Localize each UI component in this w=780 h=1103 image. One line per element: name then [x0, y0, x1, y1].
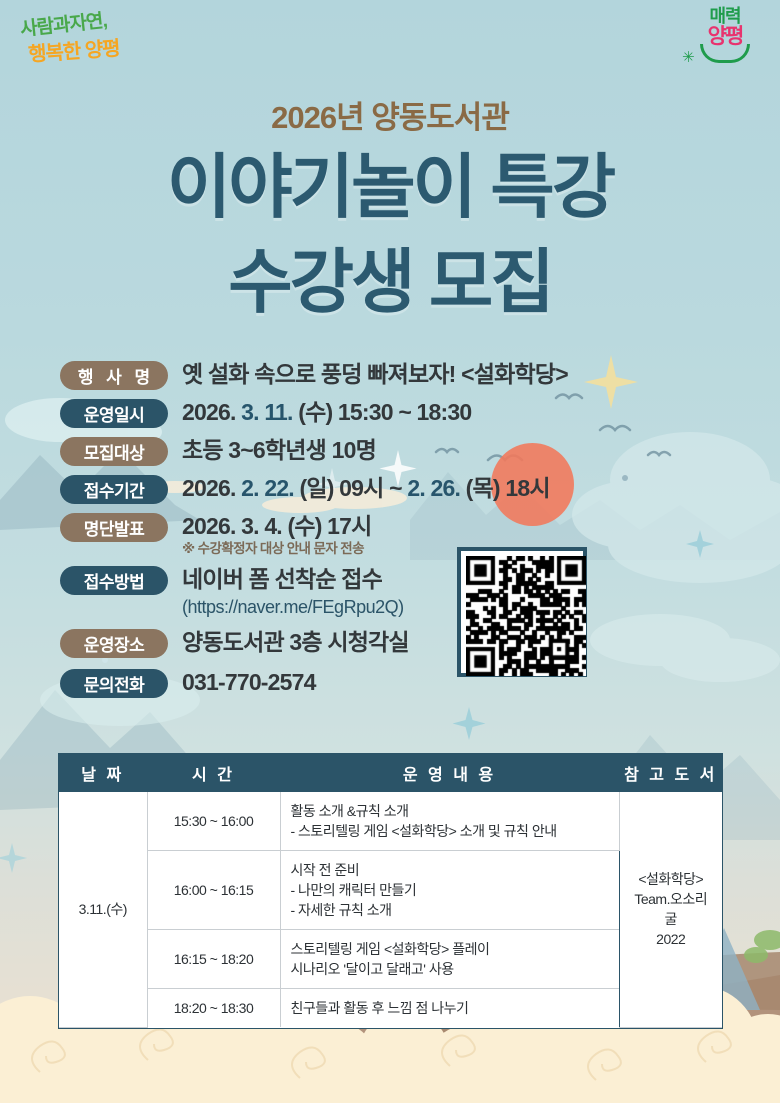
content-line: 활동 소개 &규칙 소개	[291, 801, 609, 821]
info-label-announcement: 명단발표	[60, 513, 168, 542]
application-form-link[interactable]: (https://naver.me/FEgRpu2Q)	[182, 596, 404, 618]
content-line: 스토리텔링 게임 <설화학당> 플레이	[291, 939, 609, 959]
column-header-reference: 참 고 도 서	[619, 754, 722, 792]
period-suffix: (목) 18시	[460, 475, 550, 501]
cell-content: 친구들과 활동 후 느낌 점 나누기	[280, 989, 619, 1028]
info-value-venue: 양동도서관 3층 시청각실	[182, 626, 409, 658]
info-value-target: 초등 3~6학년생 10명	[182, 434, 376, 466]
cell-content: 활동 소개 &규칙 소개- 스토리텔링 게임 <설화학당> 소개 및 규칙 안내	[280, 792, 619, 851]
info-label-target: 모집대상	[60, 437, 168, 466]
cell-time: 18:20 ~ 18:30	[147, 989, 280, 1028]
datetime-prefix: 2026.	[182, 399, 241, 425]
cell-time: 15:30 ~ 16:00	[147, 792, 280, 851]
info-label-event-name: 행 사 명	[60, 361, 168, 390]
yangpyeong-brand-logo: 매력 양평 ✳	[684, 6, 766, 72]
info-label-how-to-apply: 접수방법	[60, 566, 168, 595]
cell-content: 스토리텔링 게임 <설화학당> 플레이시나리오 '달이고 달래고' 사용	[280, 930, 619, 989]
sparkle-icon: ✳	[682, 48, 695, 66]
info-label-phone: 문의전화	[60, 669, 168, 698]
content-line: 시나리오 '달이고 달래고' 사용	[291, 959, 609, 979]
datetime-suffix: (수) 15:30 ~ 18:30	[293, 399, 472, 425]
content-line: 친구들과 활동 후 느낌 점 나누기	[291, 998, 609, 1018]
info-row-datetime: 운영일시 2026. 3. 11. (수) 15:30 ~ 18:30	[60, 396, 720, 428]
info-row-phone: 문의전화 031-770-2574	[60, 666, 720, 698]
qr-code[interactable]	[457, 547, 587, 677]
reference-line: <설화학당>	[630, 869, 713, 889]
info-label-datetime: 운영일시	[60, 399, 168, 428]
qr-code-canvas	[466, 556, 586, 676]
event-info-list: 행 사 명 옛 설화 속으로 풍덩 빠져보자! <설화학당> 운영일시 2026…	[60, 358, 720, 704]
period-highlight-end: 2. 26.	[407, 475, 460, 501]
column-header-time: 시 간	[147, 754, 280, 792]
table-row: 3.11.(수)15:30 ~ 16:00활동 소개 &규칙 소개- 스토리텔링…	[59, 792, 722, 851]
reference-line: Team.오소리굴	[630, 889, 713, 929]
info-value-datetime: 2026. 3. 11. (수) 15:30 ~ 18:30	[182, 396, 471, 428]
slogan-line-2: 행복한 양평	[27, 32, 120, 67]
qr-code-matrix	[466, 556, 578, 668]
period-mid: (일) 09시 ~	[294, 475, 407, 501]
info-row-event-name: 행 사 명 옛 설화 속으로 풍덩 빠져보자! <설화학당>	[60, 358, 720, 390]
poster-title-line-1: 이야기놀이 특강	[0, 148, 780, 226]
reference-line: 2022	[630, 929, 713, 949]
poster-canvas: 사람과자연, 행복한 양평 매력 양평 ✳ 2026년 양동도서관 이야기놀이 …	[0, 0, 780, 1103]
poster-kicker: 2026년 양동도서관	[0, 92, 780, 137]
brand-line-2: 양평	[684, 26, 766, 48]
info-label-application-period: 접수기간	[60, 475, 168, 504]
period-highlight-start: 2. 22.	[241, 475, 294, 501]
content-line: - 자세한 규칙 소개	[291, 900, 609, 920]
cell-time: 16:00 ~ 16:15	[147, 851, 280, 930]
content-line: - 나만의 캐릭터 만들기	[291, 880, 609, 900]
brand-line-1: 매력	[684, 6, 766, 26]
poster-title-line-2: 수강생 모집	[0, 243, 780, 321]
cell-time: 16:15 ~ 18:20	[147, 930, 280, 989]
table-header-row: 날 짜 시 간 운 영 내 용 참 고 도 서	[59, 754, 722, 792]
info-row-application-period: 접수기간 2026. 2. 22. (일) 09시 ~ 2. 26. (목) 1…	[60, 472, 720, 504]
content-line: - 스토리텔링 게임 <설화학당> 소개 및 규칙 안내	[291, 821, 609, 841]
period-prefix: 2026.	[182, 475, 241, 501]
info-note-announcement: ※ 수강확정자 대상 안내 문자 전송	[182, 540, 372, 557]
column-header-content: 운 영 내 용	[280, 754, 619, 792]
info-value-how-to-apply: 네이버 폼 선착순 접수	[182, 563, 404, 595]
datetime-highlight: 3. 11.	[241, 399, 292, 425]
info-value-application-period: 2026. 2. 22. (일) 09시 ~ 2. 26. (목) 18시	[182, 472, 550, 504]
content-line: 시작 전 준비	[291, 860, 609, 880]
info-value-event-name: 옛 설화 속으로 풍덩 빠져보자! <설화학당>	[182, 358, 568, 390]
column-header-date: 날 짜	[59, 754, 147, 792]
schedule-table: 날 짜 시 간 운 영 내 용 참 고 도 서 3.11.(수)15:30 ~ …	[58, 753, 723, 1029]
yangpyeong-slogan-logo: 사람과자연, 행복한 양평	[14, 8, 164, 70]
cell-content: 시작 전 준비- 나만의 캐릭터 만들기- 자세한 규칙 소개	[280, 851, 619, 930]
info-row-venue: 운영장소 양동도서관 3층 시청각실	[60, 626, 720, 658]
info-value-announcement: 2026. 3. 4. (수) 17시	[182, 510, 372, 542]
info-row-how-to-apply: 접수방법 네이버 폼 선착순 접수 (https://naver.me/FEgR…	[60, 563, 720, 618]
cell-reference: <설화학당>Team.오소리굴2022	[619, 792, 722, 1027]
info-value-phone: 031-770-2574	[182, 666, 316, 698]
info-row-announcement: 명단발표 2026. 3. 4. (수) 17시 ※ 수강확정자 대상 안내 문…	[60, 510, 720, 557]
info-label-venue: 운영장소	[60, 629, 168, 658]
info-row-target: 모집대상 초등 3~6학년생 10명	[60, 434, 720, 466]
cell-date: 3.11.(수)	[59, 792, 147, 1027]
